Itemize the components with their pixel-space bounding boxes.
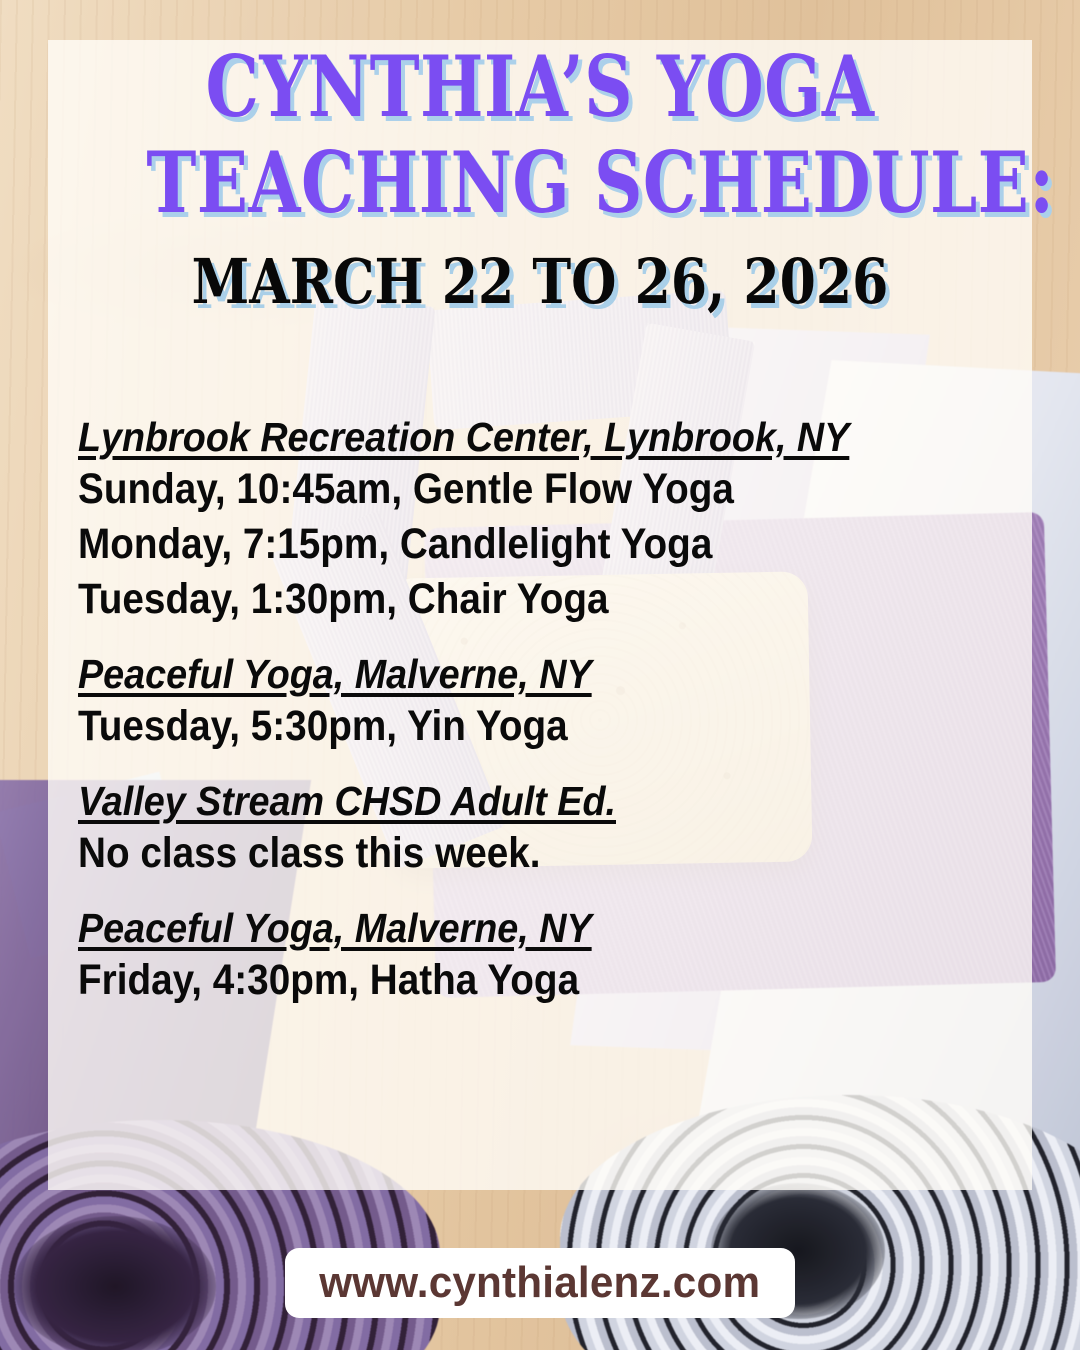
title-line-2: Teaching Schedule:	[146, 142, 933, 224]
schedule-section: Valley Stream CHSD Adult Ed. No class cl…	[78, 776, 1008, 881]
date-range-subtitle: March 22 to 26, 2026	[127, 251, 954, 313]
venue-heading: Valley Stream CHSD Adult Ed.	[78, 776, 934, 826]
title-line-1: Cynthia’s Yoga	[146, 46, 933, 128]
class-line: No class class this week.	[78, 826, 915, 881]
venue-heading: Peaceful Yoga, Malverne, NY	[78, 649, 934, 699]
schedule-list: Lynbrook Recreation Center, Lynbrook, NY…	[78, 412, 1008, 1008]
class-line: Sunday, 10:45am, Gentle Flow Yoga	[78, 462, 915, 517]
venue-heading: Lynbrook Recreation Center, Lynbrook, NY	[78, 412, 934, 462]
schedule-section: Lynbrook Recreation Center, Lynbrook, NY…	[78, 412, 1008, 627]
class-line: Friday, 4:30pm, Hatha Yoga	[78, 953, 915, 1008]
venue-heading: Peaceful Yoga, Malverne, NY	[78, 903, 934, 953]
schedule-section: Peaceful Yoga, Malverne, NY Tuesday, 5:3…	[78, 649, 1008, 754]
website-url-badge[interactable]: www.cynthialenz.com	[285, 1248, 795, 1318]
schedule-section: Peaceful Yoga, Malverne, NY Friday, 4:30…	[78, 903, 1008, 1008]
class-line: Tuesday, 1:30pm, Chair Yoga	[78, 572, 915, 627]
website-url-text: www.cynthialenz.com	[319, 1258, 760, 1308]
class-line: Monday, 7:15pm, Candlelight Yoga	[78, 517, 915, 572]
class-line: Tuesday, 5:30pm, Yin Yoga	[78, 699, 915, 754]
poster-canvas: Cynthia’s Yoga Teaching Schedule: March …	[0, 0, 1080, 1350]
poster-heading: Cynthia’s Yoga Teaching Schedule: March …	[48, 46, 1032, 313]
